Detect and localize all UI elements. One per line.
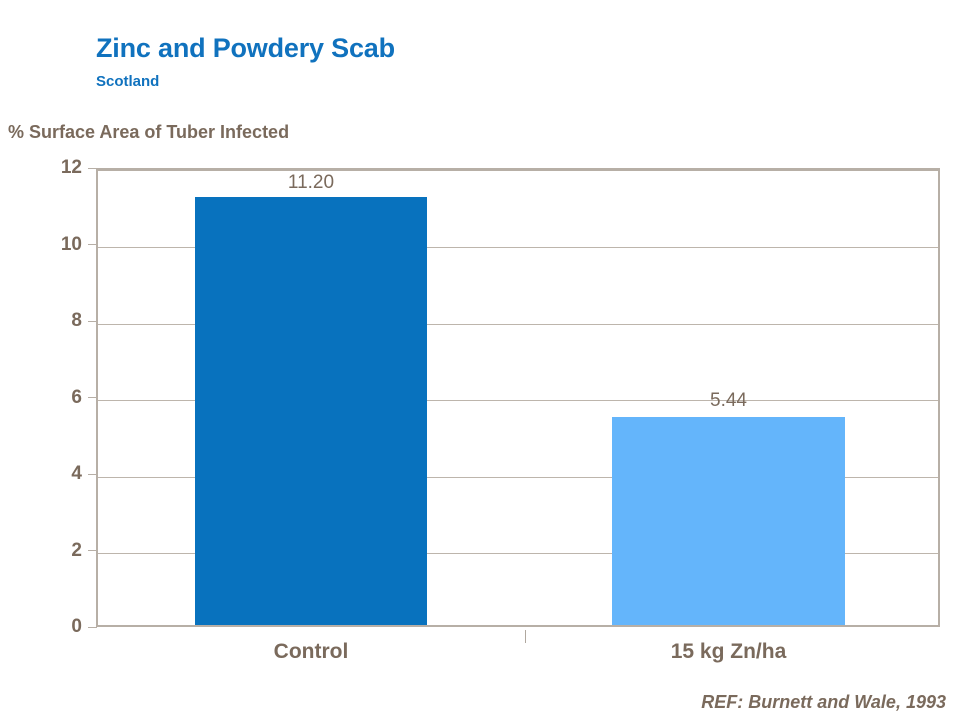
y-tick-label-12: 12 bbox=[42, 157, 82, 179]
y-tick-label-0: 0 bbox=[42, 616, 82, 638]
y-axis-title: % Surface Area of Tuber Infected bbox=[8, 122, 289, 143]
y-axis-tick-labels: 12 10 8 6 4 2 0 bbox=[38, 168, 82, 627]
y-tick-mark-0 bbox=[88, 627, 97, 628]
bar-value-15-kg-zn-ha: 5.44 bbox=[612, 390, 845, 412]
chart-subtitle: Scotland bbox=[96, 73, 159, 90]
page-title: Zinc and Powdery Scab bbox=[96, 33, 395, 64]
bar-value-control: 11.20 bbox=[195, 172, 427, 194]
y-tick-label-2: 2 bbox=[42, 540, 82, 562]
y-tick-label-6: 6 bbox=[42, 387, 82, 409]
y-tick-label-10: 10 bbox=[42, 234, 82, 256]
bar-15-kg-zn-ha[interactable] bbox=[612, 417, 845, 625]
y-tick-label-8: 8 bbox=[42, 310, 82, 332]
category-label-15-kg-zn-ha: 15 kg Zn/ha bbox=[612, 640, 845, 664]
chart-slide: Zinc and Powdery Scab Scotland % Surface… bbox=[0, 0, 960, 720]
reference-note: REF: Burnett and Wale, 1993 bbox=[701, 692, 946, 713]
y-tick-label-4: 4 bbox=[42, 463, 82, 485]
category-label-control: Control bbox=[195, 640, 427, 664]
bar-control[interactable] bbox=[195, 197, 427, 625]
category-divider bbox=[525, 630, 526, 643]
